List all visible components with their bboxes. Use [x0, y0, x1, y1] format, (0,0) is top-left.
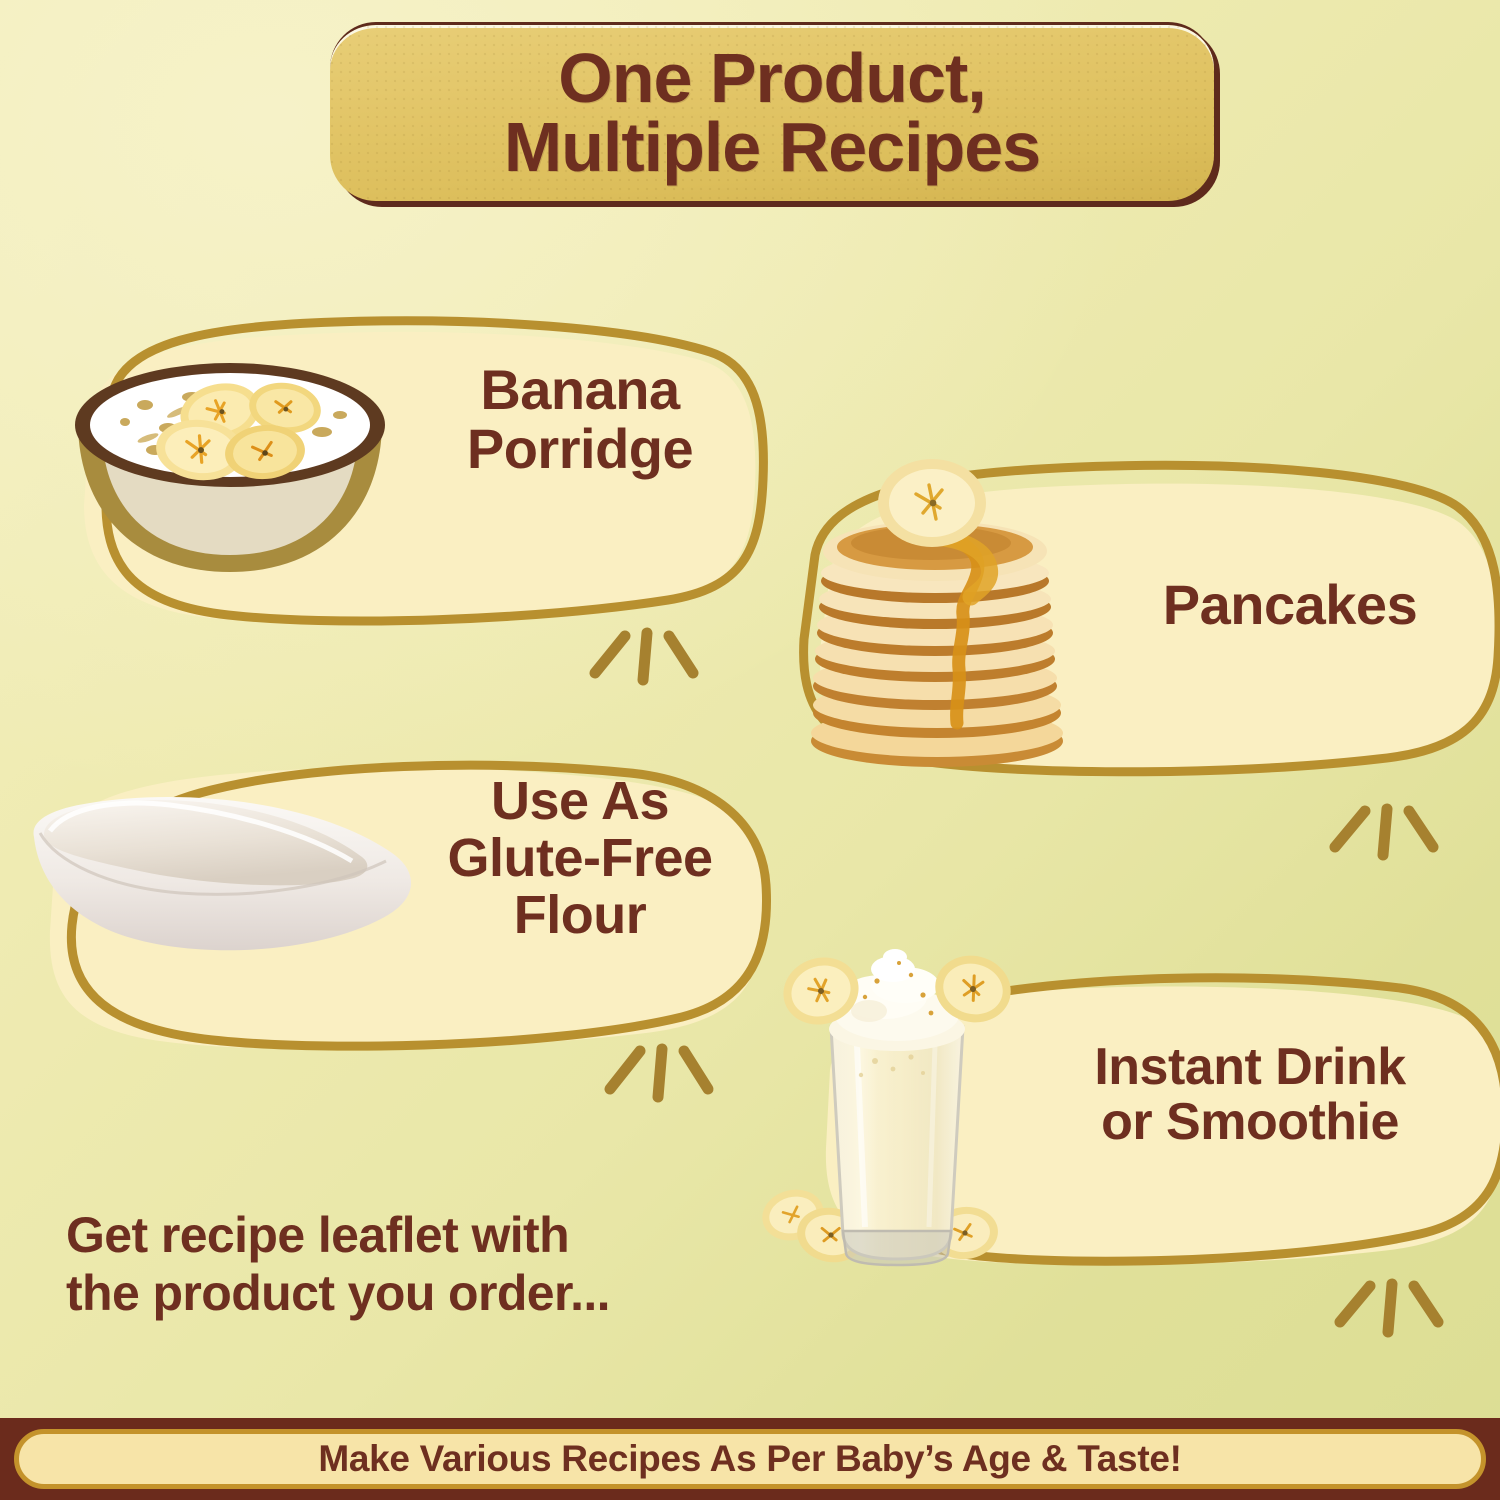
label-line-2: Porridge: [467, 417, 693, 480]
pancake-stack-image: [785, 455, 1095, 775]
label-line-3: Flour: [514, 885, 646, 945]
page-title-line2: Multiple Recipes: [504, 108, 1040, 186]
spark-lines-icon-4: [1330, 1272, 1450, 1342]
footer-text: Make Various Recipes As Per Baby’s Age &…: [318, 1438, 1181, 1480]
page-title: One Product, Multiple Recipes: [504, 44, 1040, 181]
banana-slice-topper: [878, 459, 986, 547]
smoothie-glass-image: [765, 935, 1055, 1295]
label-line-1: Use As: [491, 771, 669, 831]
flour-bowl-image: [20, 765, 430, 985]
leaflet-note-line2: the product you order...: [66, 1264, 766, 1322]
recipe-label-gluten-free-flour: Use As Glute-Free Flour: [410, 773, 750, 945]
spark-lines-icon-1: [585, 618, 705, 688]
header-banner: One Product, Multiple Recipes: [330, 22, 1220, 207]
recipe-label-instant-drink: Instant Drink or Smoothie: [1020, 1040, 1480, 1150]
label-line-1: Banana: [480, 358, 679, 421]
label-line-1: Pancakes: [1163, 573, 1417, 636]
leaflet-note-line1: Get recipe leaflet with: [66, 1206, 766, 1264]
spark-lines-icon-2: [1325, 795, 1445, 865]
spark-lines-icon-3: [600, 1035, 720, 1105]
porridge-bowl-image: [50, 350, 410, 580]
footer-pill: Make Various Recipes As Per Baby’s Age &…: [14, 1429, 1486, 1489]
recipe-label-banana-porridge: Banana Porridge: [420, 360, 740, 479]
footer-bar: Make Various Recipes As Per Baby’s Age &…: [0, 1418, 1500, 1500]
leaflet-note: Get recipe leaflet with the product you …: [66, 1206, 766, 1322]
pancake-layers: [811, 521, 1063, 767]
glass-body: [831, 1027, 963, 1259]
recipe-label-pancakes: Pancakes: [1090, 575, 1490, 634]
label-line-2: or Smoothie: [1101, 1093, 1399, 1151]
label-line-1: Instant Drink: [1094, 1038, 1405, 1096]
label-line-2: Glute-Free: [447, 828, 712, 888]
glass-base: [843, 1231, 951, 1265]
page-title-line1: One Product,: [558, 39, 985, 117]
header-banner-face: One Product, Multiple Recipes: [330, 22, 1214, 201]
